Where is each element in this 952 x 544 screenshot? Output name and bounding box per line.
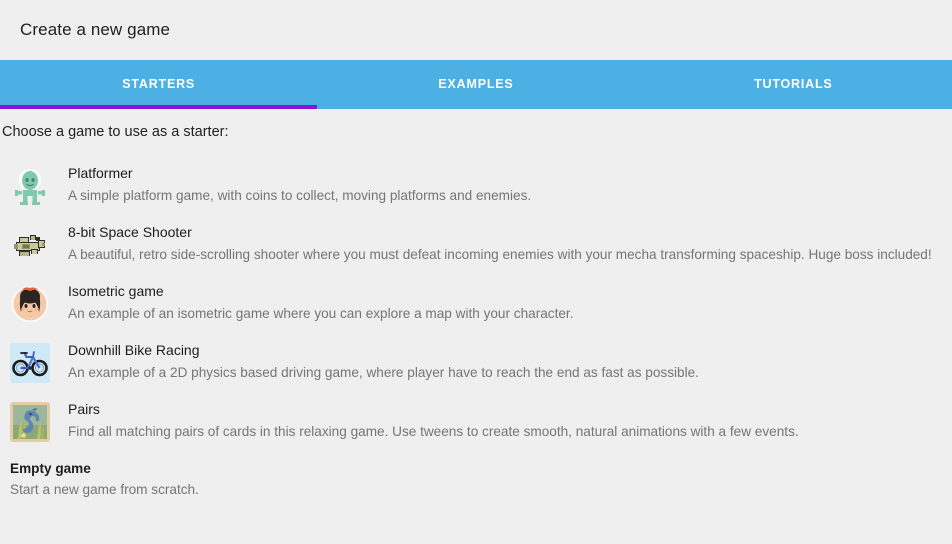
- alien-astronaut-icon: [10, 166, 50, 206]
- list-item-description: A beautiful, retro side-scrolling shoote…: [68, 245, 944, 265]
- list-item-title: 8-bit Space Shooter: [68, 223, 944, 242]
- starter-game-list: Platformer A simple platform game, with …: [0, 164, 952, 442]
- empty-game-description: Start a new game from scratch.: [10, 480, 952, 500]
- empty-game-title: Empty game: [10, 459, 952, 479]
- list-item-title: Isometric game: [68, 282, 944, 301]
- list-item-description: Find all matching pairs of cards in this…: [68, 422, 944, 442]
- page-title: Create a new game: [20, 20, 170, 40]
- dialog-header: Create a new game: [0, 0, 952, 60]
- pixel-spaceship-icon: [10, 225, 50, 265]
- character-avatar-icon: [10, 284, 50, 324]
- list-item-title: Pairs: [68, 400, 944, 419]
- tab-bar: STARTERS EXAMPLES TUTORIALS: [0, 60, 952, 109]
- list-item-description: A simple platform game, with coins to co…: [68, 186, 944, 206]
- list-item[interactable]: Downhill Bike Racing An example of a 2D …: [0, 341, 952, 383]
- list-item-text: Platformer A simple platform game, with …: [68, 164, 944, 206]
- list-item[interactable]: 8-bit Space Shooter A beautiful, retro s…: [0, 223, 952, 265]
- choose-starter-label: Choose a game to use as a starter:: [0, 109, 952, 142]
- list-item[interactable]: Platformer A simple platform game, with …: [0, 164, 952, 206]
- list-item[interactable]: Pairs Find all matching pairs of cards i…: [0, 400, 952, 442]
- bicycle-icon: [10, 343, 50, 383]
- list-item-title: Platformer: [68, 164, 944, 183]
- list-item-title: Downhill Bike Racing: [68, 341, 944, 360]
- list-item-description: An example of a 2D physics based driving…: [68, 363, 944, 383]
- tab-starters[interactable]: STARTERS: [0, 62, 317, 107]
- tab-tutorials[interactable]: TUTORIALS: [635, 62, 952, 107]
- list-item-text: Pairs Find all matching pairs of cards i…: [68, 400, 944, 442]
- empty-game-item[interactable]: Empty game Start a new game from scratch…: [0, 459, 952, 500]
- dialog-content: Choose a game to use as a starter:: [0, 109, 952, 500]
- list-item[interactable]: Isometric game An example of an isometri…: [0, 282, 952, 324]
- create-new-game-dialog: Create a new game STARTERS EXAMPLES TUTO…: [0, 0, 952, 544]
- tab-examples[interactable]: EXAMPLES: [317, 62, 634, 107]
- list-item-description: An example of an isometric game where yo…: [68, 304, 944, 324]
- list-item-text: Downhill Bike Racing An example of a 2D …: [68, 341, 944, 383]
- list-item-text: Isometric game An example of an isometri…: [68, 282, 944, 324]
- active-tab-indicator: [0, 105, 317, 109]
- list-item-text: 8-bit Space Shooter A beautiful, retro s…: [68, 223, 944, 265]
- seahorse-card-icon: [10, 402, 50, 442]
